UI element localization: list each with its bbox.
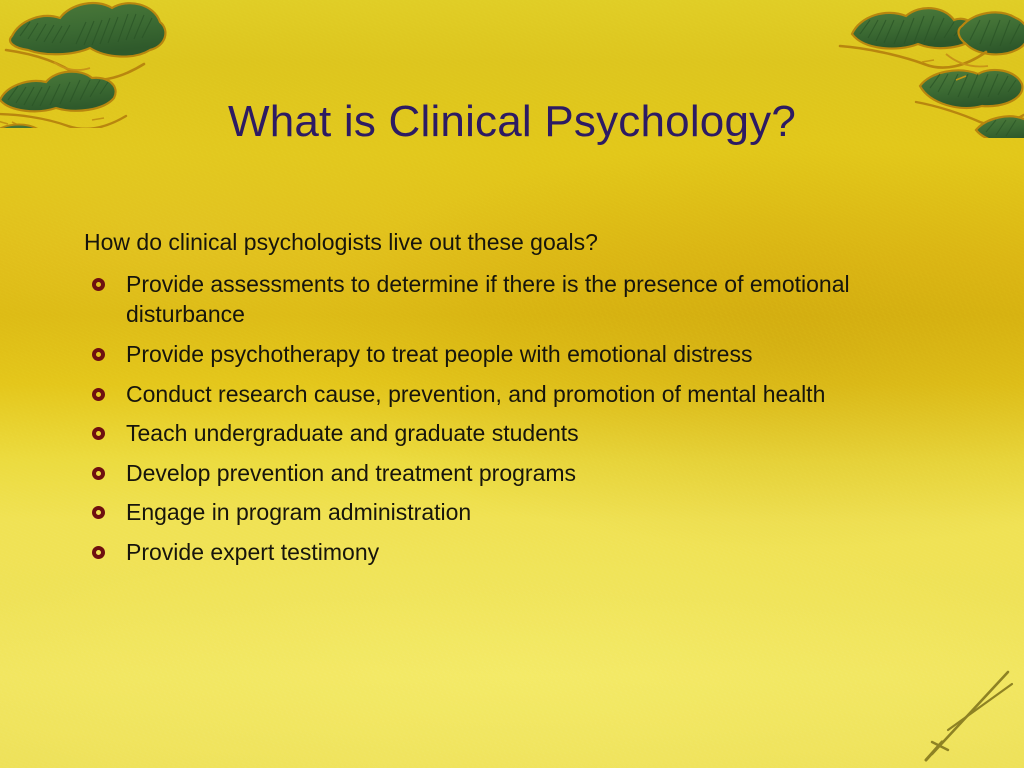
bullet-item: Provide psychotherapy to treat people wi… [84, 339, 940, 370]
bullet-ring-icon [92, 388, 105, 401]
bullet-ring-icon [92, 348, 105, 361]
bullet-text: Provide psychotherapy to treat people wi… [126, 339, 940, 370]
bullet-list: Provide assessments to determine if ther… [84, 269, 940, 568]
bullet-item: Teach undergraduate and graduate student… [84, 418, 940, 449]
bullet-item: Engage in program administration [84, 497, 940, 528]
bullet-text: Provide assessments to determine if ther… [126, 269, 940, 330]
bullet-ring-icon [92, 546, 105, 559]
bullet-text: Teach undergraduate and graduate student… [126, 418, 940, 449]
slide-body: How do clinical psychologists live out t… [84, 228, 940, 577]
bullet-text: Engage in program administration [126, 497, 940, 528]
bullet-text: Provide expert testimony [126, 537, 940, 568]
bullet-item: Provide assessments to determine if ther… [84, 269, 940, 330]
bullet-ring-icon [92, 467, 105, 480]
bullet-item: Provide expert testimony [84, 537, 940, 568]
bullet-text: Develop prevention and treatment program… [126, 458, 940, 489]
bullet-ring-icon [92, 427, 105, 440]
bullet-text: Conduct research cause, prevention, and … [126, 379, 940, 410]
bullet-item: Conduct research cause, prevention, and … [84, 379, 940, 410]
slide-title: What is Clinical Psychology? [0, 98, 1024, 146]
presentation-slide: What is Clinical Psychology? How do clin… [0, 0, 1024, 768]
bullet-ring-icon [92, 278, 105, 291]
bullet-ring-icon [92, 506, 105, 519]
intro-question: How do clinical psychologists live out t… [84, 228, 940, 258]
bullet-item: Develop prevention and treatment program… [84, 458, 940, 489]
